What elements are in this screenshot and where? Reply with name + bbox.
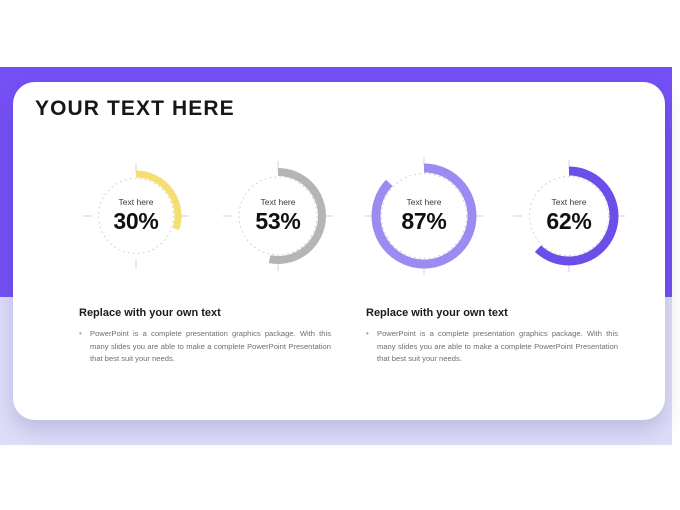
text-block: Replace with your own text • PowerPoint …: [79, 307, 331, 366]
block-heading: Replace with your own text: [366, 307, 618, 319]
donut-gauge: Text here30%: [75, 155, 197, 277]
gauge-value-arc: [94, 174, 178, 258]
bullet-icon: •: [366, 328, 377, 341]
block-heading: Replace with your own text: [79, 307, 331, 319]
donut-gauge: Text here87%: [355, 147, 493, 285]
gauge-chart-group: Text here30%Text here53%Text here87%Text…: [13, 150, 665, 285]
donut-gauge: Text here62%: [503, 150, 635, 282]
text-block: Replace with your own text • PowerPoint …: [366, 307, 618, 366]
donut-gauge: Text here53%: [214, 152, 342, 280]
slide-root: YOUR TEXT HERE Text here30%Text here53%T…: [0, 0, 680, 510]
gauge-value-arc: [376, 168, 472, 264]
gauge-track: [99, 179, 174, 254]
gauge-value-arc: [234, 172, 322, 260]
page-title: YOUR TEXT HERE: [35, 97, 235, 121]
content-card: YOUR TEXT HERE Text here30%Text here53%T…: [13, 82, 665, 420]
bullet-text: PowerPoint is a complete presentation gr…: [90, 328, 331, 366]
list-item: • PowerPoint is a complete presentation …: [79, 328, 331, 366]
gauge-track: [239, 177, 317, 255]
list-item: • PowerPoint is a complete presentation …: [366, 328, 618, 366]
text-block-group: Replace with your own text • PowerPoint …: [13, 307, 665, 407]
bullet-text: PowerPoint is a complete presentation gr…: [377, 328, 618, 366]
bullet-icon: •: [79, 328, 90, 341]
gauge-value-arc: [524, 171, 614, 261]
gauge-track: [382, 174, 467, 259]
gauge-track: [530, 177, 609, 256]
